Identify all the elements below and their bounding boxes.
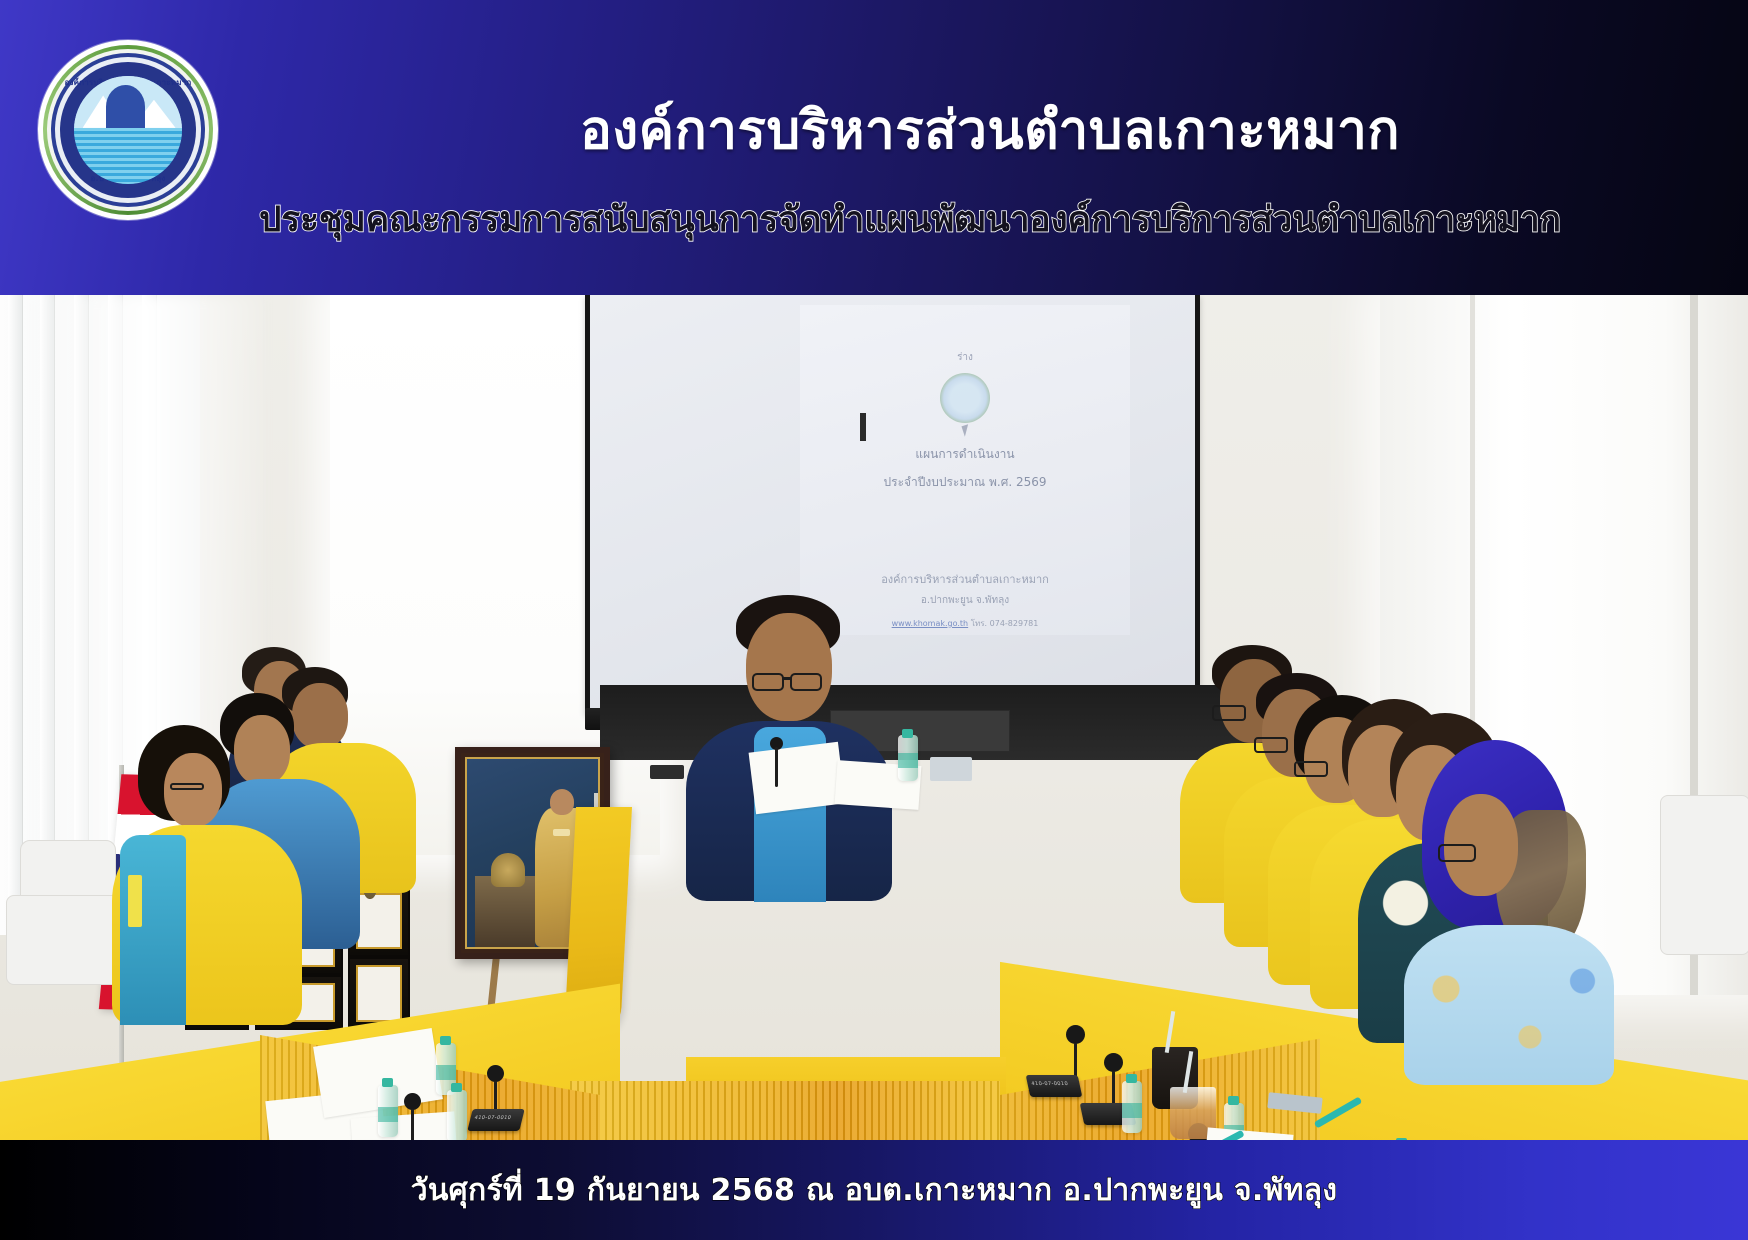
bottle-label xyxy=(378,1107,398,1122)
slide-website-url: www.khomak.go.th xyxy=(892,619,969,628)
chairperson xyxy=(700,595,880,895)
slide-line-1: แผนการดำเนินงาน xyxy=(800,445,1130,464)
slide-phone: โทร. 074-829781 xyxy=(971,619,1039,628)
altar-tier-panel xyxy=(356,893,402,949)
poster-root: องค์การบริหารส่วนตำบลเกาะหมาก อ.ปากพะยูน… xyxy=(0,0,1748,1240)
slide-draft-label: ร่าง xyxy=(800,350,1130,365)
microphone-base: 410-07-0010 xyxy=(467,1109,524,1131)
table-head-skirt xyxy=(570,1081,1000,1140)
window-blind-slat xyxy=(8,295,22,935)
bottle-label xyxy=(436,1065,456,1080)
microphone-label: 410-07-0010 xyxy=(1031,1081,1069,1087)
participant-right-6-hijab xyxy=(1408,740,1608,1070)
microphone-label: 410-07-0010 xyxy=(474,1115,512,1121)
bottle-label xyxy=(898,753,918,768)
bottle-cap xyxy=(440,1036,451,1045)
mouse-cursor-icon xyxy=(961,424,971,437)
bottle-cap xyxy=(1126,1074,1137,1083)
altar-tier-panel xyxy=(356,965,402,1022)
eyeglasses-bridge xyxy=(782,677,792,680)
slide-line-3: องค์การบริหารส่วนตำบลเกาะหมาก xyxy=(800,570,1130,588)
page-title: องค์การบริหารส่วนตำบลเกาะหมาก xyxy=(300,88,1680,172)
chair xyxy=(1660,795,1748,955)
bottle-cap xyxy=(382,1078,393,1087)
microphone-head xyxy=(487,1065,504,1082)
microphone-head xyxy=(1066,1025,1085,1044)
portrait-sash xyxy=(553,829,570,837)
logo-scene-illustration xyxy=(74,76,182,184)
microphone-head xyxy=(404,1093,421,1110)
slide-line-2: ประจำปีงบประมาณ พ.ศ. 2569 xyxy=(800,473,1130,492)
microphone-head xyxy=(1104,1053,1123,1072)
eyeglasses-icon xyxy=(790,673,822,691)
microphone-stem xyxy=(411,1109,414,1140)
projector-screen-mount xyxy=(860,413,866,441)
microphone-stem xyxy=(1074,1043,1077,1077)
page-subtitle: ประชุมคณะกรรมการสนับสนุนการจัดทำแผนพัฒนา… xyxy=(170,192,1650,247)
microphone-stem xyxy=(494,1081,497,1111)
bottle-cap xyxy=(451,1083,462,1092)
header-banner: องค์การบริหารส่วนตำบลเกาะหมาก อ.ปากพะยูน… xyxy=(0,0,1748,295)
water-bottle xyxy=(447,1090,467,1140)
vest xyxy=(120,835,186,1025)
logo-island-hill xyxy=(106,85,145,128)
portrait-urn xyxy=(491,853,525,887)
meeting-photo: ร่าง แผนการดำเนินงาน ประจำปีงบประมาณ พ.ศ… xyxy=(0,295,1748,1140)
eyeglasses-icon xyxy=(170,783,204,790)
slide-logo-icon xyxy=(940,373,990,423)
head xyxy=(164,753,222,827)
torso xyxy=(1404,925,1614,1085)
bottle-cap xyxy=(902,729,913,738)
bottle-cap xyxy=(1228,1096,1239,1105)
projector-screen: ร่าง แผนการดำเนินงาน ประจำปีงบประมาณ พ.ศ… xyxy=(585,295,1200,715)
microphone-stem xyxy=(1112,1071,1115,1107)
participant-left-1 xyxy=(130,725,300,1005)
document xyxy=(749,742,846,815)
projected-slide: ร่าง แผนการดำเนินงาน ประจำปีงบประมาณ พ.ศ… xyxy=(800,305,1130,635)
head xyxy=(746,613,832,721)
logo-water xyxy=(74,128,182,184)
footer-caption-bar: วันศุกร์ที่ 19 กันยายน 2568 ณ อบต.เกาะหม… xyxy=(0,1140,1748,1240)
event-caption: วันศุกร์ที่ 19 กันยายน 2568 ณ อบต.เกาะหม… xyxy=(411,1167,1338,1214)
bottle-label xyxy=(1122,1103,1142,1118)
microphone-base: 410-07-0010 xyxy=(1026,1075,1083,1097)
table-object xyxy=(930,757,972,781)
table-object xyxy=(650,765,684,779)
chair xyxy=(6,895,124,985)
microphone-stem xyxy=(775,747,778,787)
eyeglasses-icon xyxy=(1438,844,1476,862)
eyeglasses-icon xyxy=(752,673,784,691)
portrait-head xyxy=(550,789,575,815)
vest-badge xyxy=(128,875,142,927)
